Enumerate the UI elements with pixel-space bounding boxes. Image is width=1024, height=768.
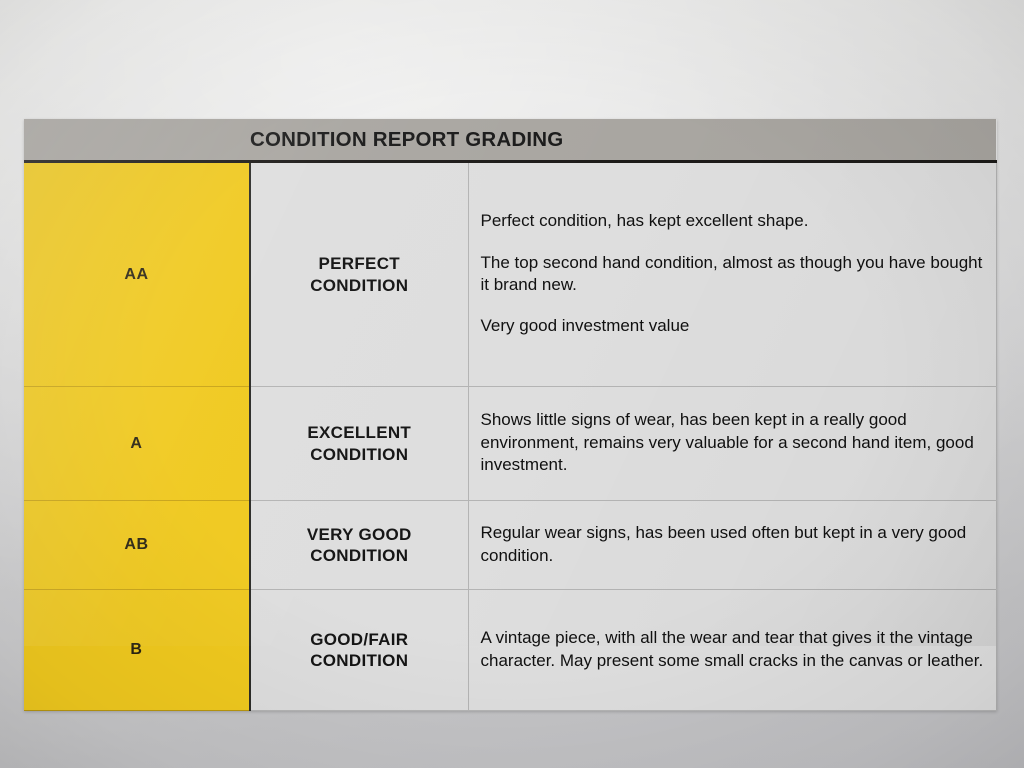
description-paragraph: The top second hand condition, almost as…	[481, 252, 984, 297]
grade-description-a: Shows little signs of wear, has been kep…	[468, 387, 996, 501]
grade-label-line-1: VERY GOOD	[307, 525, 412, 544]
grade-label-line-1: PERFECT	[319, 254, 400, 273]
photographed-document-surface: CONDITION REPORT GRADING AA PERFECT COND…	[0, 0, 1024, 768]
grade-label-line-1: GOOD/FAIR	[310, 630, 408, 649]
grade-description-b: A vintage piece, with all the wear and t…	[468, 590, 996, 711]
description-paragraph: Shows little signs of wear, has been kep…	[481, 409, 984, 476]
grade-code-b: B	[24, 590, 250, 711]
grade-code-a: A	[24, 387, 250, 501]
condition-report-grading-table: CONDITION REPORT GRADING AA PERFECT COND…	[24, 119, 997, 711]
description-paragraph: Perfect condition, has kept excellent sh…	[481, 210, 984, 232]
table-row: A EXCELLENT CONDITION Shows little signs…	[24, 387, 996, 501]
description-paragraph: Very good investment value	[481, 315, 984, 337]
grade-description-ab: Regular wear signs, has been used often …	[468, 501, 996, 590]
grade-code-aa: AA	[24, 162, 250, 387]
grade-description-aa: Perfect condition, has kept excellent sh…	[468, 162, 996, 387]
grade-label-line-2: CONDITION	[310, 651, 408, 670]
description-paragraph: A vintage piece, with all the wear and t…	[481, 627, 984, 672]
grade-label-aa: PERFECT CONDITION	[250, 162, 468, 387]
table-row: AA PERFECT CONDITION Perfect condition, …	[24, 162, 996, 387]
grade-label-line-2: CONDITION	[310, 445, 408, 464]
grade-label-ab: VERY GOOD CONDITION	[250, 501, 468, 590]
table-row: AB VERY GOOD CONDITION Regular wear sign…	[24, 501, 996, 590]
grade-label-line-1: EXCELLENT	[307, 423, 411, 442]
grade-label-a: EXCELLENT CONDITION	[250, 387, 468, 501]
table-header-row: CONDITION REPORT GRADING	[24, 119, 996, 162]
page-title: CONDITION REPORT GRADING	[250, 128, 563, 151]
grade-label-line-2: CONDITION	[310, 276, 408, 295]
grade-label-b: GOOD/FAIR CONDITION	[250, 590, 468, 711]
grade-label-line-2: CONDITION	[310, 546, 408, 565]
header-blank-cell	[24, 119, 250, 162]
table-row: B GOOD/FAIR CONDITION A vintage piece, w…	[24, 590, 996, 711]
description-paragraph: Regular wear signs, has been used often …	[481, 522, 984, 567]
grade-code-ab: AB	[24, 501, 250, 590]
header-title-cell: CONDITION REPORT GRADING	[250, 119, 996, 162]
